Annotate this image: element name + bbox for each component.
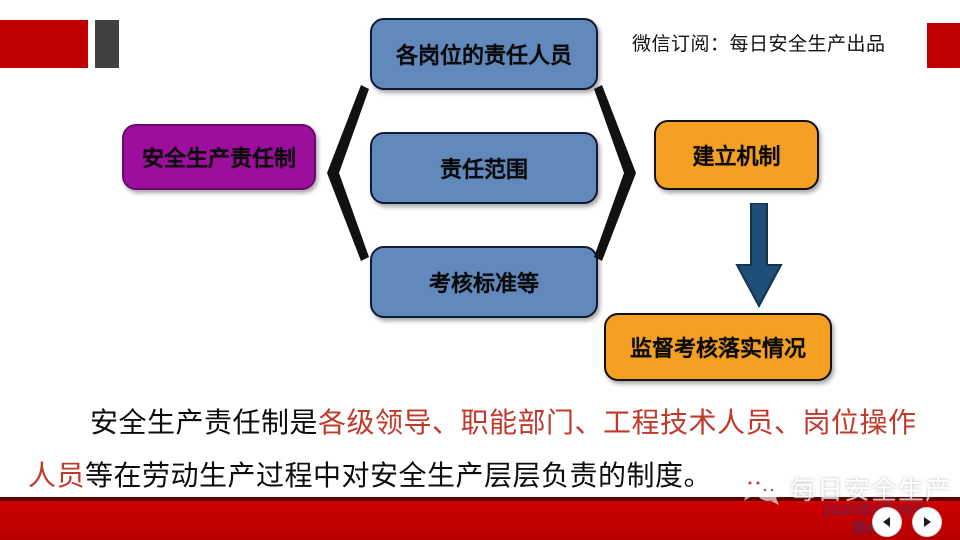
right-angle-bracket-icon [592,85,638,261]
diagram-branch-box-3: 考核标准等 [370,246,598,318]
header-note: 微信订阅：每日安全生产出品 [632,29,886,56]
watermark-text: 每日安全生产 [790,470,952,507]
next-slide-button[interactable] [912,507,942,537]
paragraph-line2-plain: 等在劳动生产过程中对安全生产层层负责的制度。 [85,460,712,491]
decoration-red-block-left [0,20,88,68]
diagram-root-box: 安全生产责任制 [122,124,316,190]
decoration-red-block-right [927,23,960,68]
slide-canvas: 微信订阅：每日安全生产出品 安全生产责任制 各岗位的责任人员 责任范围 考核标准… [0,0,960,540]
decoration-gray-block [95,20,119,68]
left-angle-bracket-icon [325,85,371,261]
diagram-branch-box-1: 各岗位的责任人员 [370,18,598,90]
watermark: 每日安全生产 [740,470,952,507]
diagram-outcome-box-2: 监督考核落实情况 [604,313,832,381]
chevron-left-icon [880,515,894,529]
prev-slide-button[interactable] [872,507,902,537]
diagram-branch-box-2: 责任范围 [370,132,598,204]
down-arrow-icon [734,203,784,308]
wechat-icon [740,472,782,506]
chevron-right-icon [920,515,934,529]
diagram-outcome-box-1: 建立机制 [654,120,819,190]
paragraph-line1-highlight: 各级领导、职能部门、工程技术人员、岗位操作 [318,407,917,438]
paragraph-line2-highlight: 人员 [28,460,85,491]
paragraph-line1-plain: 安全生产责任制是 [90,407,318,438]
